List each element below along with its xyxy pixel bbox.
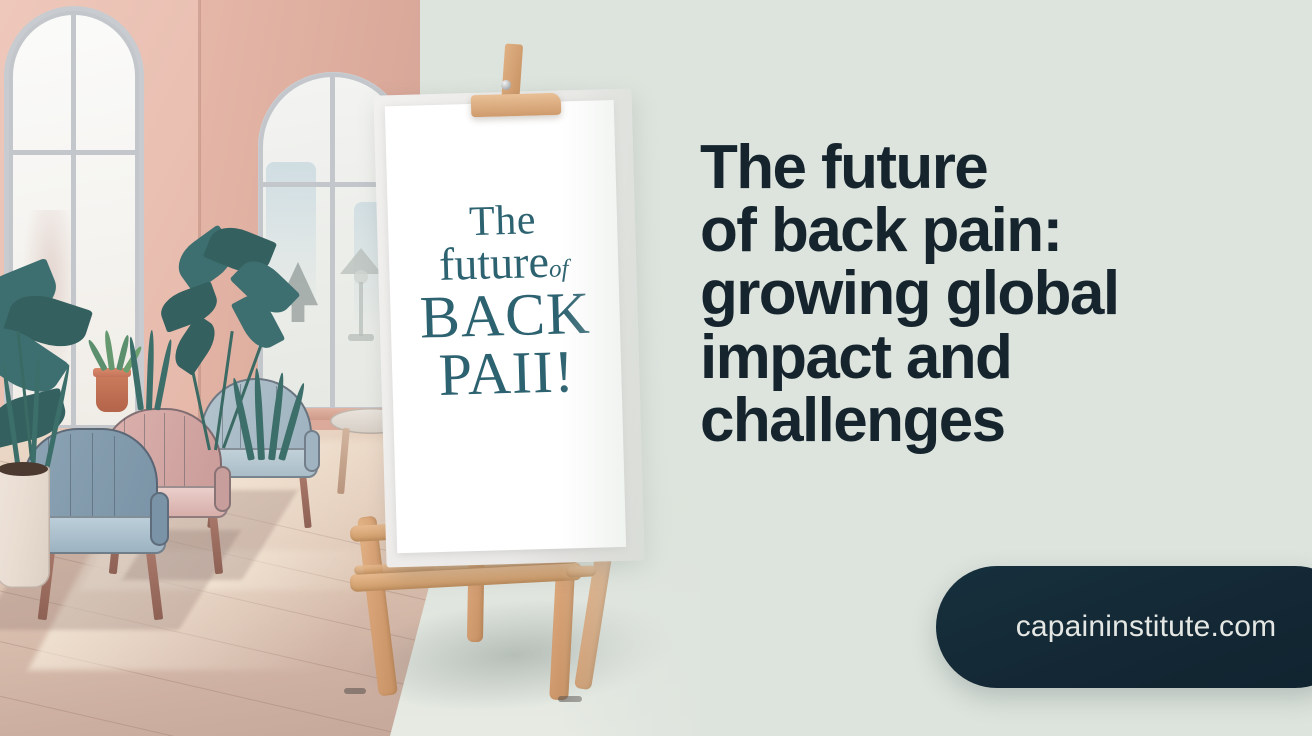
windowsill-pot [96, 372, 128, 412]
headline-line-5: challenges [700, 389, 1260, 452]
window-mullion-horizontal [8, 150, 140, 155]
poster-line-3: BACK [390, 284, 621, 348]
website-badge[interactable]: capaininstitute.com [936, 566, 1312, 688]
easel-foot-right [558, 696, 582, 702]
page-title: The future of back pain: growing global … [700, 136, 1260, 452]
floor-planter-cream [0, 466, 50, 588]
poster-board: The futureof BACK PAII! [373, 88, 644, 567]
headline-line-4: impact and [700, 326, 1260, 389]
poster-canvas: The futureof BACK PAII! The future of ba… [0, 0, 1312, 736]
poster-text-block: The futureof BACK PAII! [387, 198, 622, 406]
easel-clamp-jaw [471, 93, 562, 118]
headline-line-2: of back pain: [700, 199, 1260, 262]
website-badge-label: capaininstitute.com [1016, 610, 1277, 644]
poster-line-4: PAII! [392, 342, 623, 406]
wooden-easel: The futureof BACK PAII! [330, 20, 700, 736]
easel-rear-brace [566, 565, 597, 578]
waiting-room-illustration: The futureof BACK PAII! [0, 0, 700, 736]
window-mullion-vertical [71, 10, 76, 430]
planter-soil [0, 462, 48, 476]
poster-line-2-small: of [549, 256, 569, 284]
poster-paper: The futureof BACK PAII! [385, 100, 626, 553]
easel-foot-left [344, 688, 366, 694]
easel-clamp-pin [501, 80, 511, 90]
headline-line-1: The future [700, 136, 1260, 199]
headline-line-3: growing global [700, 262, 1260, 325]
